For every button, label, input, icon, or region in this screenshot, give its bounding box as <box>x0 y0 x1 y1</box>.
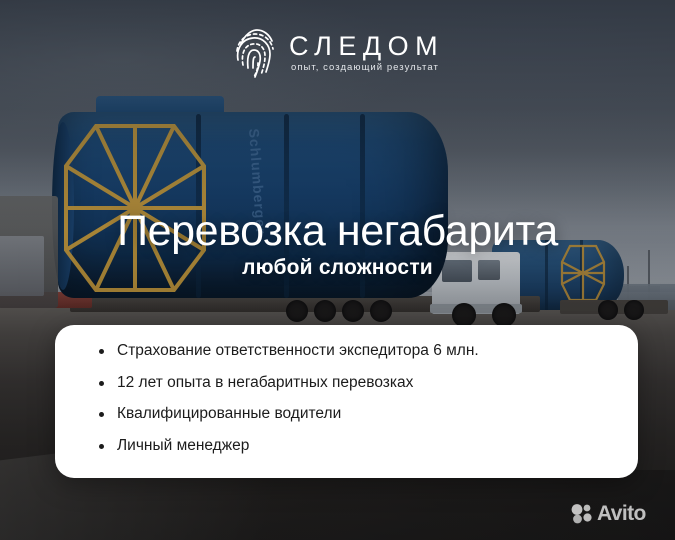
list-item: 12 лет опыта в негабаритных перевозках <box>55 375 638 391</box>
brand-name: СЛЕДОМ <box>289 33 444 60</box>
trailer-wheel <box>342 300 364 322</box>
fingerprint-icon <box>232 27 278 79</box>
list-item: Квалифицированные водители <box>55 406 638 422</box>
page-title: Перевозка негабарита <box>0 208 675 254</box>
bullet-icon <box>99 349 104 354</box>
advertisement-banner: Schlumberger <box>0 0 675 540</box>
bullet-icon <box>99 381 104 386</box>
list-item-label: Личный менеджер <box>117 438 249 454</box>
list-item-label: Квалифицированные водители <box>117 406 341 422</box>
trailer-wheel <box>624 300 644 320</box>
avito-dots-icon <box>571 503 592 524</box>
list-item-label: 12 лет опыта в негабаритных перевозках <box>117 375 413 391</box>
avito-label: Avito <box>597 503 646 524</box>
list-item: Страхование ответственности экспедитора … <box>55 343 638 359</box>
page-subtitle: любой сложности <box>0 256 675 280</box>
company-logo: СЛЕДОМ опыт, создающий результат <box>232 27 444 79</box>
trailer-wheel <box>286 300 308 322</box>
truck-wheel <box>452 303 476 327</box>
bullet-icon <box>99 412 104 417</box>
bullet-icon <box>99 444 104 449</box>
list-item-label: Страхование ответственности экспедитора … <box>117 343 479 359</box>
trailer-wheel <box>314 300 336 322</box>
avito-watermark: Avito <box>571 503 646 524</box>
trailer-wheel <box>370 300 392 322</box>
trailer-wheel <box>598 300 618 320</box>
brand-tagline: опыт, создающий результат <box>289 63 444 73</box>
features-card: Страхование ответственности экспедитора … <box>55 325 638 478</box>
list-item: Личный менеджер <box>55 438 638 454</box>
truck-wheel <box>492 303 516 327</box>
features-list: Страхование ответственности экспедитора … <box>55 343 638 453</box>
